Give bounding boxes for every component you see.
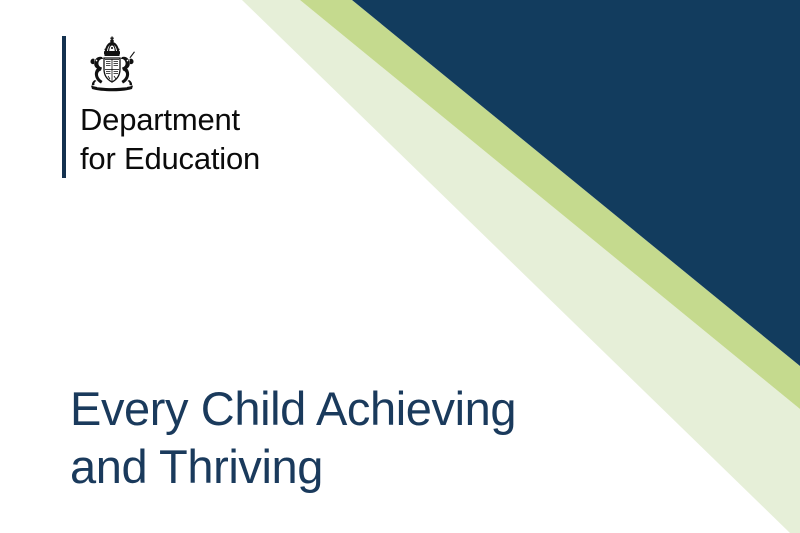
royal-coat-of-arms-icon — [82, 36, 142, 94]
logo-vertical-rule — [62, 36, 66, 178]
sage-green-band — [300, 0, 800, 409]
department-for-education-logo: Department for Education — [62, 36, 260, 178]
logo-body: Department for Education — [80, 36, 260, 178]
cover-page: Department for Education Every Child Ach… — [0, 0, 800, 533]
logo-wordmark: Department for Education — [80, 100, 260, 178]
navy-band — [352, 0, 800, 366]
page-title: Every Child Achieving and Thriving — [70, 380, 516, 496]
